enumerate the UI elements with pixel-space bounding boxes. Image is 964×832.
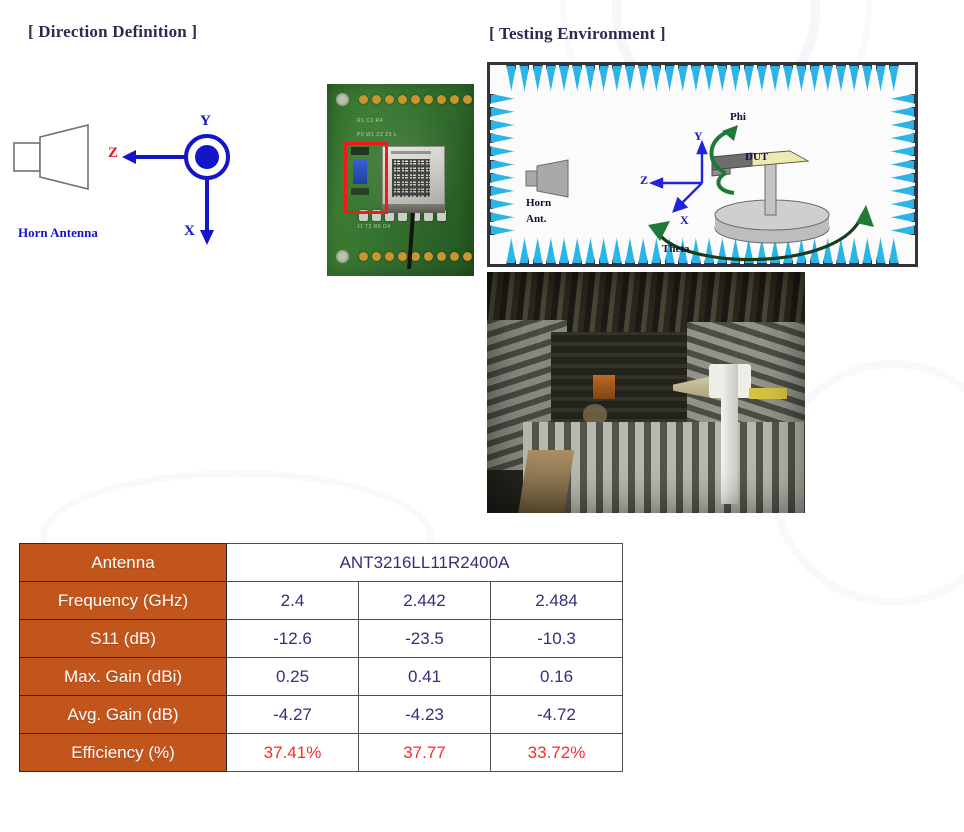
phi-label: Phi	[730, 111, 746, 123]
chamber-horn-label-line1: Horn	[526, 197, 551, 209]
row-header-max-gain: Max. Gain (dBi)	[20, 658, 227, 696]
chamber-horn-antenna-icon	[526, 160, 568, 197]
cell-max-gain-3: 0.16	[491, 658, 623, 696]
chamber-axes-icon	[652, 143, 706, 211]
chamber-axis-label-y: Y	[694, 129, 703, 144]
anechoic-chamber-photograph	[487, 272, 805, 513]
direction-axis-label-y: Y	[200, 113, 211, 130]
pcb-rf-module	[382, 146, 445, 210]
table-row: Efficiency (%) 37.41% 37.77 33.72%	[20, 734, 623, 772]
theta-label: Theta	[662, 243, 690, 255]
cell-avg-gain-1: -4.27	[227, 696, 359, 734]
row-header-antenna: Antenna	[20, 544, 227, 582]
cell-efficiency-3: 33.72%	[491, 734, 623, 772]
direction-definition-diagram: Y Z X Horn Antenna	[10, 105, 310, 270]
cell-frequency-1: 2.4	[227, 582, 359, 620]
pcb-silkscreen: R1 C2 R4	[357, 118, 383, 124]
pcb-mounting-hole	[336, 250, 349, 263]
cell-max-gain-2: 0.41	[359, 658, 491, 696]
row-header-avg-gain: Avg. Gain (dB)	[20, 696, 227, 734]
table-row: S11 (dB) -12.6 -23.5 -10.3	[20, 620, 623, 658]
cell-frequency-2: 2.442	[359, 582, 491, 620]
module-qr-code	[392, 159, 430, 197]
pcb-pad-row	[359, 95, 472, 104]
cell-max-gain-1: 0.25	[227, 658, 359, 696]
cell-efficiency-2: 37.77	[359, 734, 491, 772]
row-header-efficiency: Efficiency (%)	[20, 734, 227, 772]
cell-avg-gain-3: -4.72	[491, 696, 623, 734]
antenna-highlight-box	[344, 142, 388, 214]
cell-s11-1: -12.6	[227, 620, 359, 658]
pcb-silkscreen: P0 W1 Z2 Z3 L	[357, 132, 397, 138]
anechoic-chamber-diagram: Horn Ant. Y Z X Phi DUT Theta	[487, 62, 918, 267]
table-body: Antenna ANT3216LL11R2400A Frequency (GHz…	[20, 544, 623, 772]
row-header-frequency: Frequency (GHz)	[20, 582, 227, 620]
row-header-s11: S11 (dB)	[20, 620, 227, 658]
direction-definition-title: [ Direction Definition ]	[28, 22, 197, 42]
chamber-axis-label-x: X	[680, 213, 689, 228]
horn-antenna-icon	[14, 125, 88, 189]
dut-pcb-photo: R1 C2 R4 P0 W1 Z2 Z3 L J1 T2 R6 D4	[327, 84, 474, 276]
antenna-results-table: Antenna ANT3216LL11R2400A Frequency (GHz…	[19, 543, 623, 772]
pcb-silkscreen: J1 T2 R6 D4	[357, 224, 390, 230]
direction-axis-label-z: Z	[108, 145, 118, 162]
cell-s11-2: -23.5	[359, 620, 491, 658]
cell-s11-3: -10.3	[491, 620, 623, 658]
chamber-axis-label-z: Z	[640, 173, 648, 188]
table-row: Frequency (GHz) 2.4 2.442 2.484	[20, 582, 623, 620]
chamber-contents-svg	[490, 65, 921, 270]
direction-axis-label-x: X	[184, 223, 195, 240]
horn-antenna-label: Horn Antenna	[18, 225, 98, 241]
table-row: Antenna ANT3216LL11R2400A	[20, 544, 623, 582]
cell-antenna-model: ANT3216LL11R2400A	[227, 544, 623, 582]
cell-frequency-3: 2.484	[491, 582, 623, 620]
dut-label: DUT	[745, 151, 768, 163]
chamber-horn-label-line2: Ant.	[526, 213, 546, 225]
direction-definition-svg	[10, 105, 310, 270]
testing-environment-title: [ Testing Environment ]	[489, 24, 666, 44]
cell-efficiency-1: 37.41%	[227, 734, 359, 772]
pcb-pad-row	[359, 252, 472, 261]
table-row: Avg. Gain (dB) -4.27 -4.23 -4.72	[20, 696, 623, 734]
table-row: Max. Gain (dBi) 0.25 0.41 0.16	[20, 658, 623, 696]
module-pin-row	[382, 204, 445, 213]
cell-avg-gain-2: -4.23	[359, 696, 491, 734]
pcb-mounting-hole	[336, 93, 349, 106]
